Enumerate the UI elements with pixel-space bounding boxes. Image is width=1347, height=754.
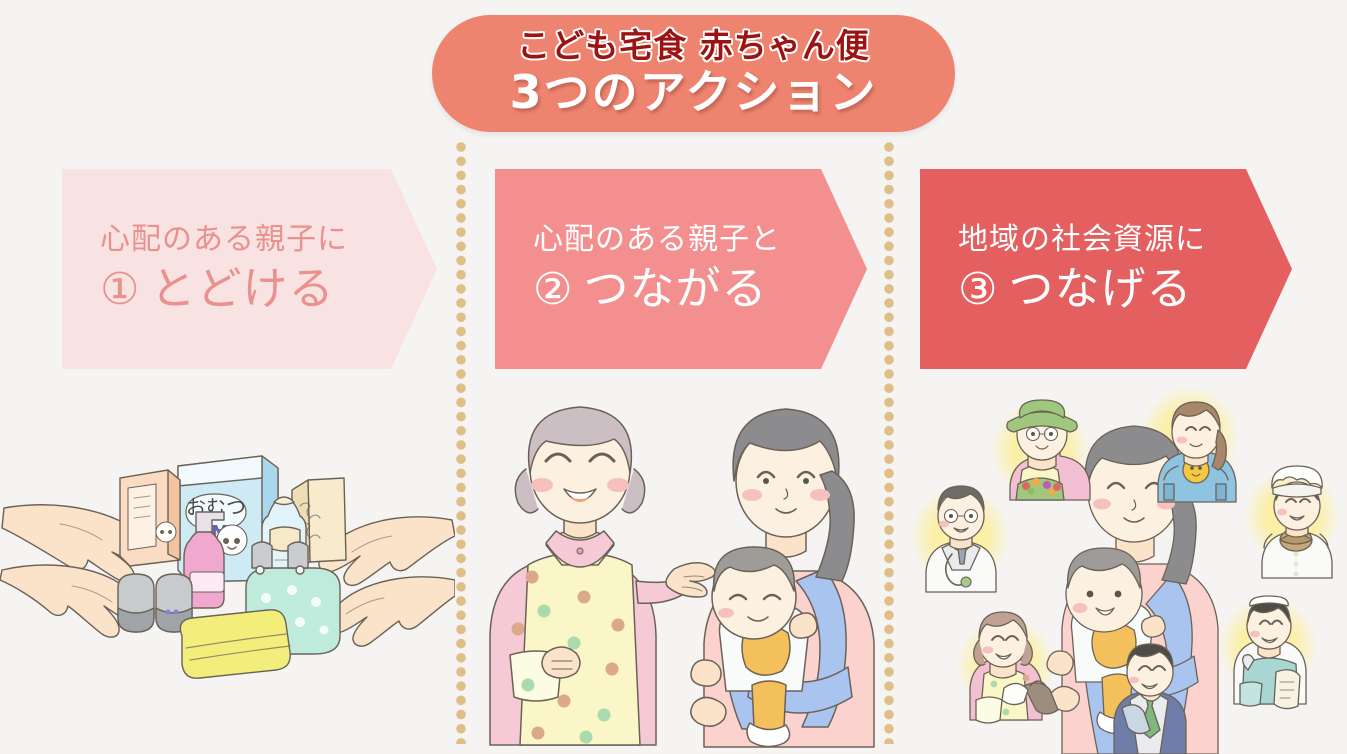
illustration-hands-delivering-supplies: おむつ M — [0, 420, 455, 754]
action-arrow-2: 心配のある親子と ② つながる — [495, 169, 867, 369]
action-2-verb: つながる — [583, 262, 767, 317]
action-1-label: ① とどける — [100, 262, 437, 317]
action-arrow-1: 心配のある親子に ① とどける — [62, 169, 437, 369]
action-1-number: ① — [100, 263, 140, 317]
illustration-volunteer-and-mother — [468, 385, 878, 754]
action-1-verb: とどける — [150, 262, 334, 317]
title-banner-subtitle: こども宅食 赤ちゃん便 — [517, 28, 870, 64]
dotted-divider-right — [884, 140, 894, 744]
action-3-caption: 地域の社会資源に — [958, 221, 1292, 259]
action-arrow-3: 地域の社会資源に ③ つなげる — [920, 169, 1292, 369]
infographic-canvas: こども宅食 赤ちゃん便 3つのアクション 心配のある親子に ① とどける 心配の… — [0, 0, 1347, 754]
dotted-divider-left — [456, 140, 466, 744]
action-2-caption: 心配のある親子と — [533, 221, 867, 259]
action-2-number: ② — [533, 263, 573, 317]
action-3-label: ③ つなげる — [958, 262, 1292, 317]
action-3-number: ③ — [958, 263, 998, 317]
action-2-label: ② つながる — [533, 262, 867, 317]
action-1-caption: 心配のある親子に — [100, 221, 437, 259]
action-3-verb: つなげる — [1008, 262, 1192, 317]
title-banner: こども宅食 赤ちゃん便 3つのアクション — [432, 15, 955, 132]
illustration-community-supporters — [900, 378, 1347, 754]
title-banner-headline: 3つのアクション — [510, 66, 878, 119]
